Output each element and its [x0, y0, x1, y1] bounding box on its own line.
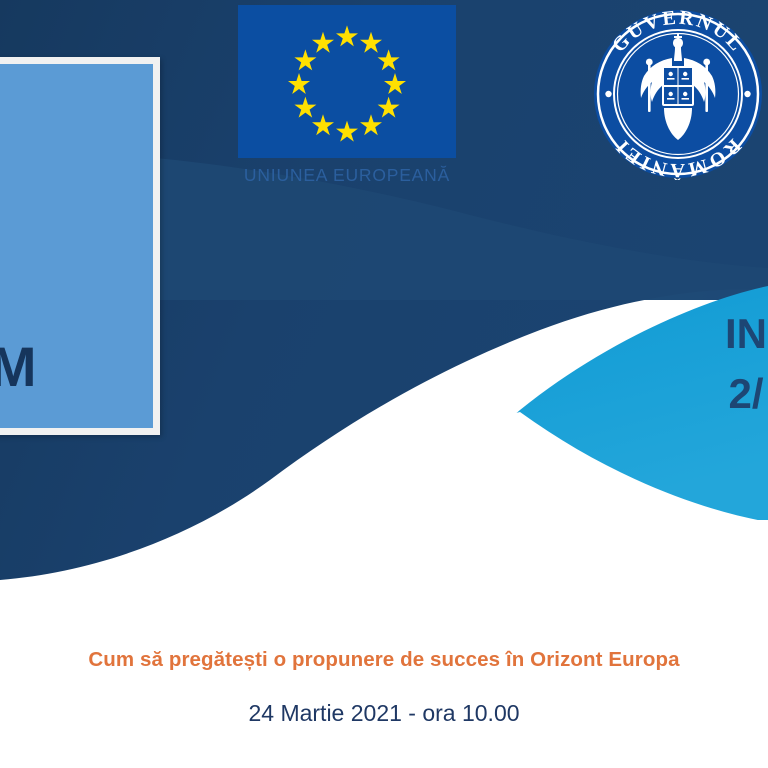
- event-date: 24 Martie 2021 - ora 10.00: [0, 700, 768, 727]
- chevron-diamond-logo-icon: [0, 192, 57, 332]
- eu-emblem: UNIUNEA EUROPEANĂ: [238, 5, 456, 186]
- eu-caption: UNIUNEA EUROPEANĂ: [238, 165, 456, 186]
- partner-logo-card-inner: -TM: [0, 64, 153, 428]
- partner-logo-card: -TM: [0, 57, 160, 435]
- caption-block: Cum să pregătești o propunere de succes …: [0, 648, 768, 727]
- edition-line-2: 2/: [666, 372, 768, 416]
- partner-logo-text: -TM: [0, 334, 36, 399]
- event-title: Cum să pregătești o propunere de succes …: [0, 648, 768, 672]
- romanian-government-seal-icon: GUVERNUL ROMÂNIEI: [592, 8, 764, 180]
- edition-block: IN 2/: [666, 312, 768, 416]
- eu-flag-icon: [238, 5, 456, 158]
- edition-line-1: IN: [666, 312, 768, 356]
- event-banner-slide: -TM: [0, 0, 768, 768]
